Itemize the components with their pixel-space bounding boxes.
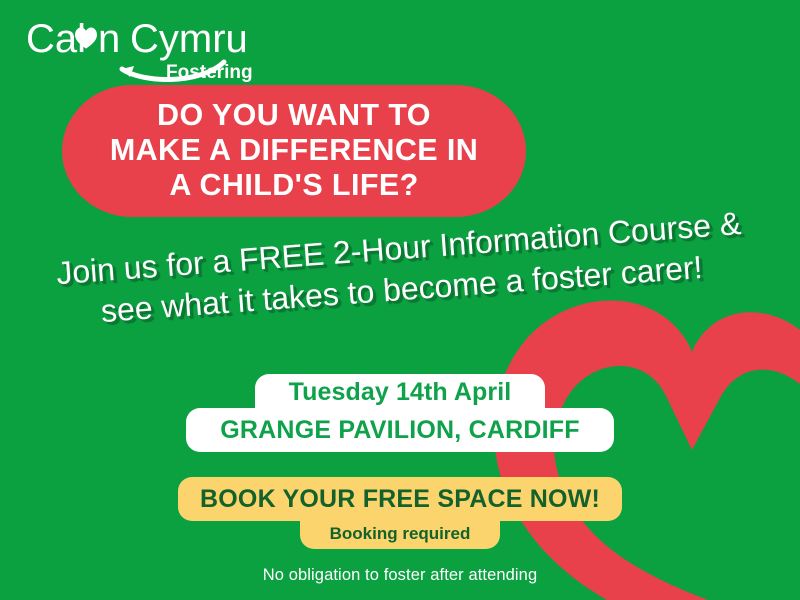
event-date-label: Tuesday 14th April [289, 378, 512, 407]
booking-required-note: Booking required [300, 519, 500, 549]
event-date-box: Tuesday 14th April [255, 374, 545, 410]
subheading-text: Join us for a FREE 2-Hour Information Co… [48, 203, 752, 336]
promo-poster: Cal n Cymru Fostering DO YOU WANT TO MAK… [0, 0, 800, 600]
logo-word-cymru: Cymru [130, 17, 248, 61]
event-venue-label: GRANGE PAVILION, CARDIFF [220, 416, 579, 445]
footer-note: No obligation to foster after attending [0, 566, 800, 585]
book-space-label: BOOK YOUR FREE SPACE NOW! [200, 485, 600, 514]
headline-text: DO YOU WANT TO MAKE A DIFFERENCE IN A CH… [110, 98, 478, 202]
subheading-container: Join us for a FREE 2-Hour Information Co… [48, 203, 756, 386]
logo-word-n: n [98, 17, 120, 61]
event-details: Tuesday 14th April GRANGE PAVILION, CARD… [0, 374, 800, 452]
brand-logo: Cal n Cymru Fostering [26, 14, 276, 82]
event-venue-box: GRANGE PAVILION, CARDIFF [186, 408, 614, 452]
cta-block: BOOK YOUR FREE SPACE NOW! Booking requir… [0, 477, 800, 549]
headline-pill: DO YOU WANT TO MAKE A DIFFERENCE IN A CH… [62, 85, 526, 217]
logo-tagline: Fostering [166, 62, 253, 82]
book-space-button[interactable]: BOOK YOUR FREE SPACE NOW! [178, 477, 622, 521]
booking-required-label: Booking required [330, 524, 471, 544]
